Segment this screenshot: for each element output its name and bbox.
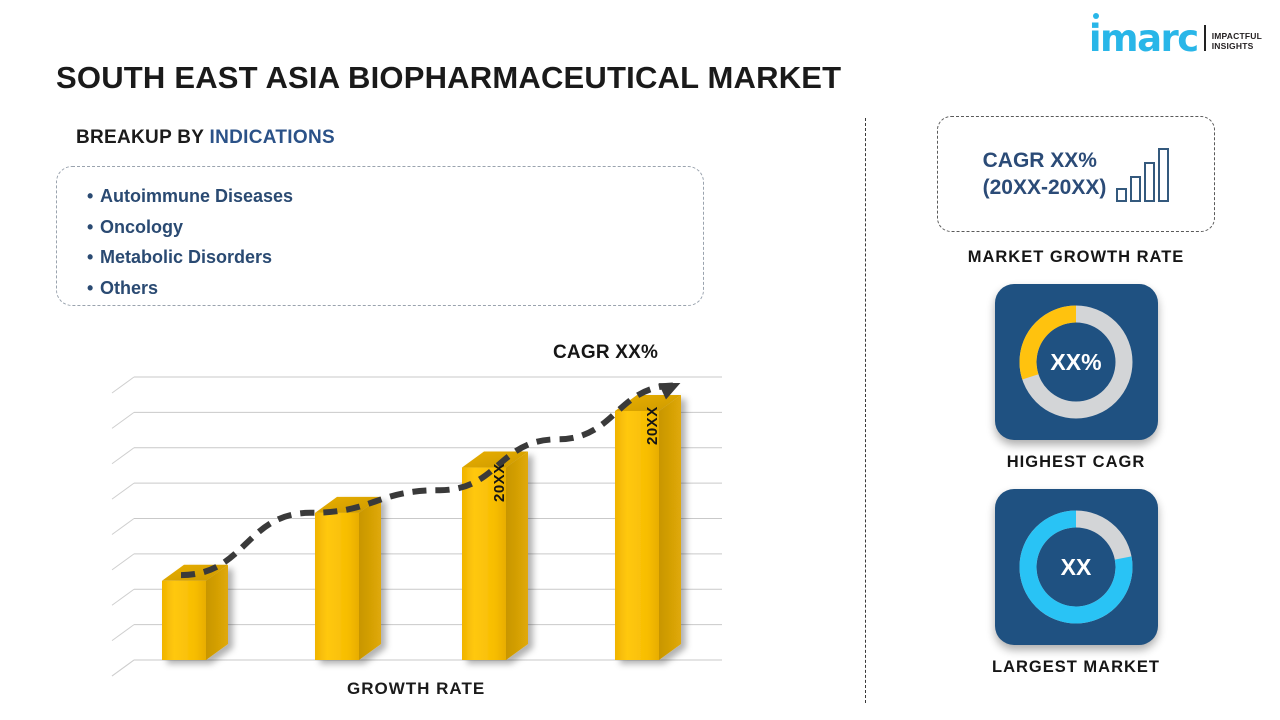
highest-cagr-caption: HIGHEST CAGR	[1007, 453, 1146, 472]
bar-chart-icon	[1116, 146, 1169, 202]
logo-tagline-line2: INSIGHTS	[1212, 41, 1262, 51]
breakup-heading: BREAKUP BY INDICATIONS	[76, 127, 335, 149]
market-growth-rate-caption: MARKET GROWTH RATE	[900, 248, 1252, 267]
chart-x-axis-label: GROWTH RATE	[347, 679, 485, 699]
largest-market-tile: XX	[995, 489, 1158, 645]
breakup-prefix: BREAKUP BY	[76, 127, 204, 148]
growth-card-line2: (20XX-20XX)	[983, 174, 1107, 201]
breakup-dimension: INDICATIONS	[210, 127, 335, 148]
page-title: SOUTH EAST ASIA BIOPHARMACEUTICAL MARKET	[56, 60, 841, 96]
bar-chart-icon-bar	[1144, 162, 1155, 202]
logo-dot-icon	[1093, 13, 1099, 19]
bar-chart-icon-bar	[1158, 148, 1169, 202]
logo-wordmark: imarc	[1089, 24, 1198, 54]
largest-market-caption: LARGEST MARKET	[992, 658, 1160, 677]
infographic-page: imarc IMPACTFUL INSIGHTS SOUTH EAST ASIA…	[0, 0, 1280, 720]
bullet-icon: •	[87, 181, 100, 212]
imarc-logo: imarc IMPACTFUL INSIGHTS	[1089, 14, 1262, 54]
highest-cagr-value: XX%	[995, 349, 1158, 376]
list-item: •Others	[87, 273, 703, 304]
growth-bar-chart	[62, 335, 752, 680]
largest-market-value: XX	[995, 554, 1158, 581]
logo-tagline: IMPACTFUL INSIGHTS	[1212, 31, 1262, 54]
growth-card-line1: CAGR XX%	[983, 147, 1107, 174]
chart-canvas	[62, 335, 752, 680]
list-item: •Metabolic Disorders	[87, 242, 703, 273]
list-item-label: Oncology	[100, 217, 183, 237]
bar-value-label: 20XX	[491, 463, 508, 502]
bar-chart-icon-bar	[1130, 176, 1141, 202]
logo-divider	[1204, 25, 1206, 51]
bullet-icon: •	[87, 212, 100, 243]
list-item: •Autoimmune Diseases	[87, 181, 703, 212]
chart-cagr-annotation: CAGR XX%	[553, 342, 658, 364]
logo-tagline-line1: IMPACTFUL	[1212, 31, 1262, 41]
list-item: •Oncology	[87, 212, 703, 243]
bullet-icon: •	[87, 273, 100, 304]
list-item-label: Others	[100, 278, 158, 298]
indications-box: •Autoimmune Diseases •Oncology •Metaboli…	[56, 166, 704, 306]
bar-value-label: 20XX	[644, 406, 661, 445]
largest-market-kpi: XX LARGEST MARKET	[900, 489, 1252, 677]
bullet-icon: •	[87, 242, 100, 273]
kpi-column: CAGR XX% (20XX-20XX) MARKET GROWTH RATE …	[900, 116, 1252, 677]
highest-cagr-tile: XX%	[995, 284, 1158, 440]
market-growth-rate-card: CAGR XX% (20XX-20XX)	[937, 116, 1215, 232]
logo-word-text: imarc	[1089, 17, 1198, 60]
section-divider	[865, 118, 866, 703]
highest-cagr-kpi: XX% HIGHEST CAGR	[900, 284, 1252, 472]
bar-chart-icon-bar	[1116, 188, 1127, 202]
list-item-label: Autoimmune Diseases	[100, 186, 293, 206]
growth-card-text: CAGR XX% (20XX-20XX)	[983, 147, 1107, 201]
list-item-label: Metabolic Disorders	[100, 247, 272, 267]
